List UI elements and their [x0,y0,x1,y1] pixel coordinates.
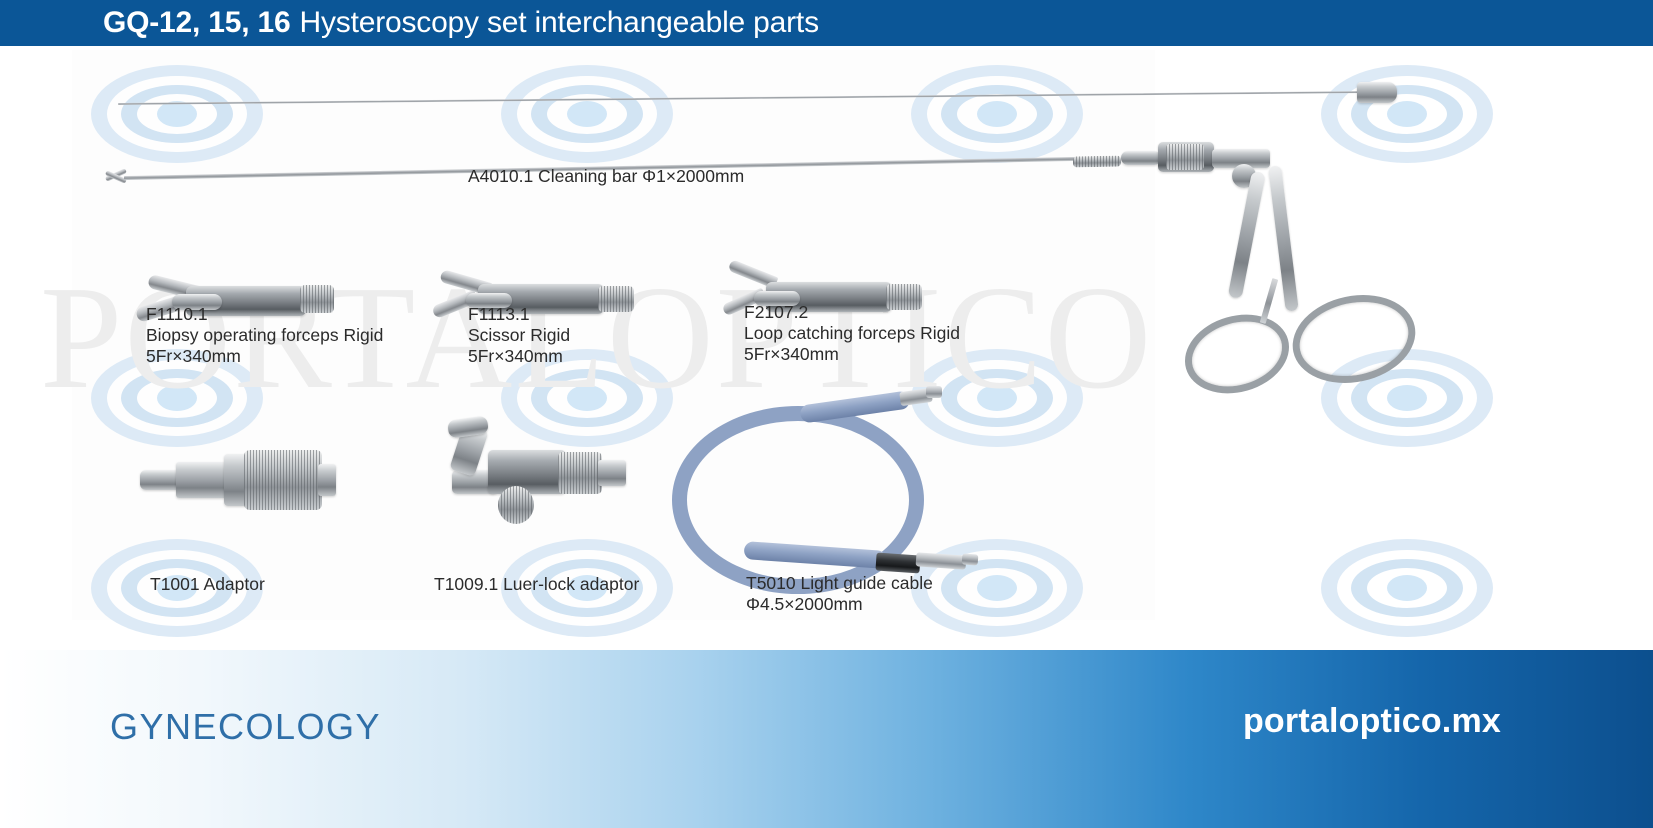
caption-code: F1110.1 [146,304,383,325]
page-footer: GYNECOLOGY portaloptico.mx [0,650,1653,828]
caption-line: A4010.1 Cleaning bar Φ1×2000mm [468,166,744,187]
caption-name: T5010 Light guide cable [746,573,933,594]
caption-spec: 5Fr×340mm [744,344,960,365]
footer-category: GYNECOLOGY [110,706,381,748]
caption-line: T1001 Adaptor [150,574,265,595]
caption-loop-catching-forceps: F2107.2 Loop catching forceps Rigid 5Fr×… [744,302,960,365]
caption-name: Scissor Rigid [468,325,570,346]
page-title-text: Hysteroscopy set interchangeable parts [300,6,819,40]
caption-spec: Φ4.5×2000mm [746,594,933,615]
page-title: GQ-12, 15, 16 Hysteroscopy set interchan… [103,1,819,45]
caption-code: F1113.1 [468,304,570,325]
footer-website: portaloptico.mx [1243,702,1501,741]
page-header: GQ-12, 15, 16 Hysteroscopy set interchan… [0,0,1653,46]
instrument-illustrations: A4010.1 Cleaning bar Φ1×2000mm F1110.1 B… [0,46,1653,650]
caption-name: Biopsy operating forceps Rigid [146,325,383,346]
caption-line: T1009.1 Luer-lock adaptor [434,574,639,595]
caption-spec: 5Fr×340mm [468,346,570,367]
finger-ring-lower [1176,303,1299,405]
finger-ring-upper [1284,284,1423,394]
product-sheet-area: PORTALOPTICO [0,46,1653,650]
caption-name: Loop catching forceps Rigid [744,323,960,344]
caption-biopsy-forceps: F1110.1 Biopsy operating forceps Rigid 5… [146,304,383,367]
caption-cleaning-bar: A4010.1 Cleaning bar Φ1×2000mm [468,166,744,187]
page-title-code: GQ-12, 15, 16 [103,6,291,40]
caption-spec: 5Fr×340mm [146,346,383,367]
caption-luer-lock-adaptor: T1009.1 Luer-lock adaptor [434,574,639,595]
caption-light-guide-cable: T5010 Light guide cable Φ4.5×2000mm [746,573,933,615]
caption-adaptor: T1001 Adaptor [150,574,265,595]
caption-code: F2107.2 [744,302,960,323]
caption-scissor: F1113.1 Scissor Rigid 5Fr×340mm [468,304,570,367]
